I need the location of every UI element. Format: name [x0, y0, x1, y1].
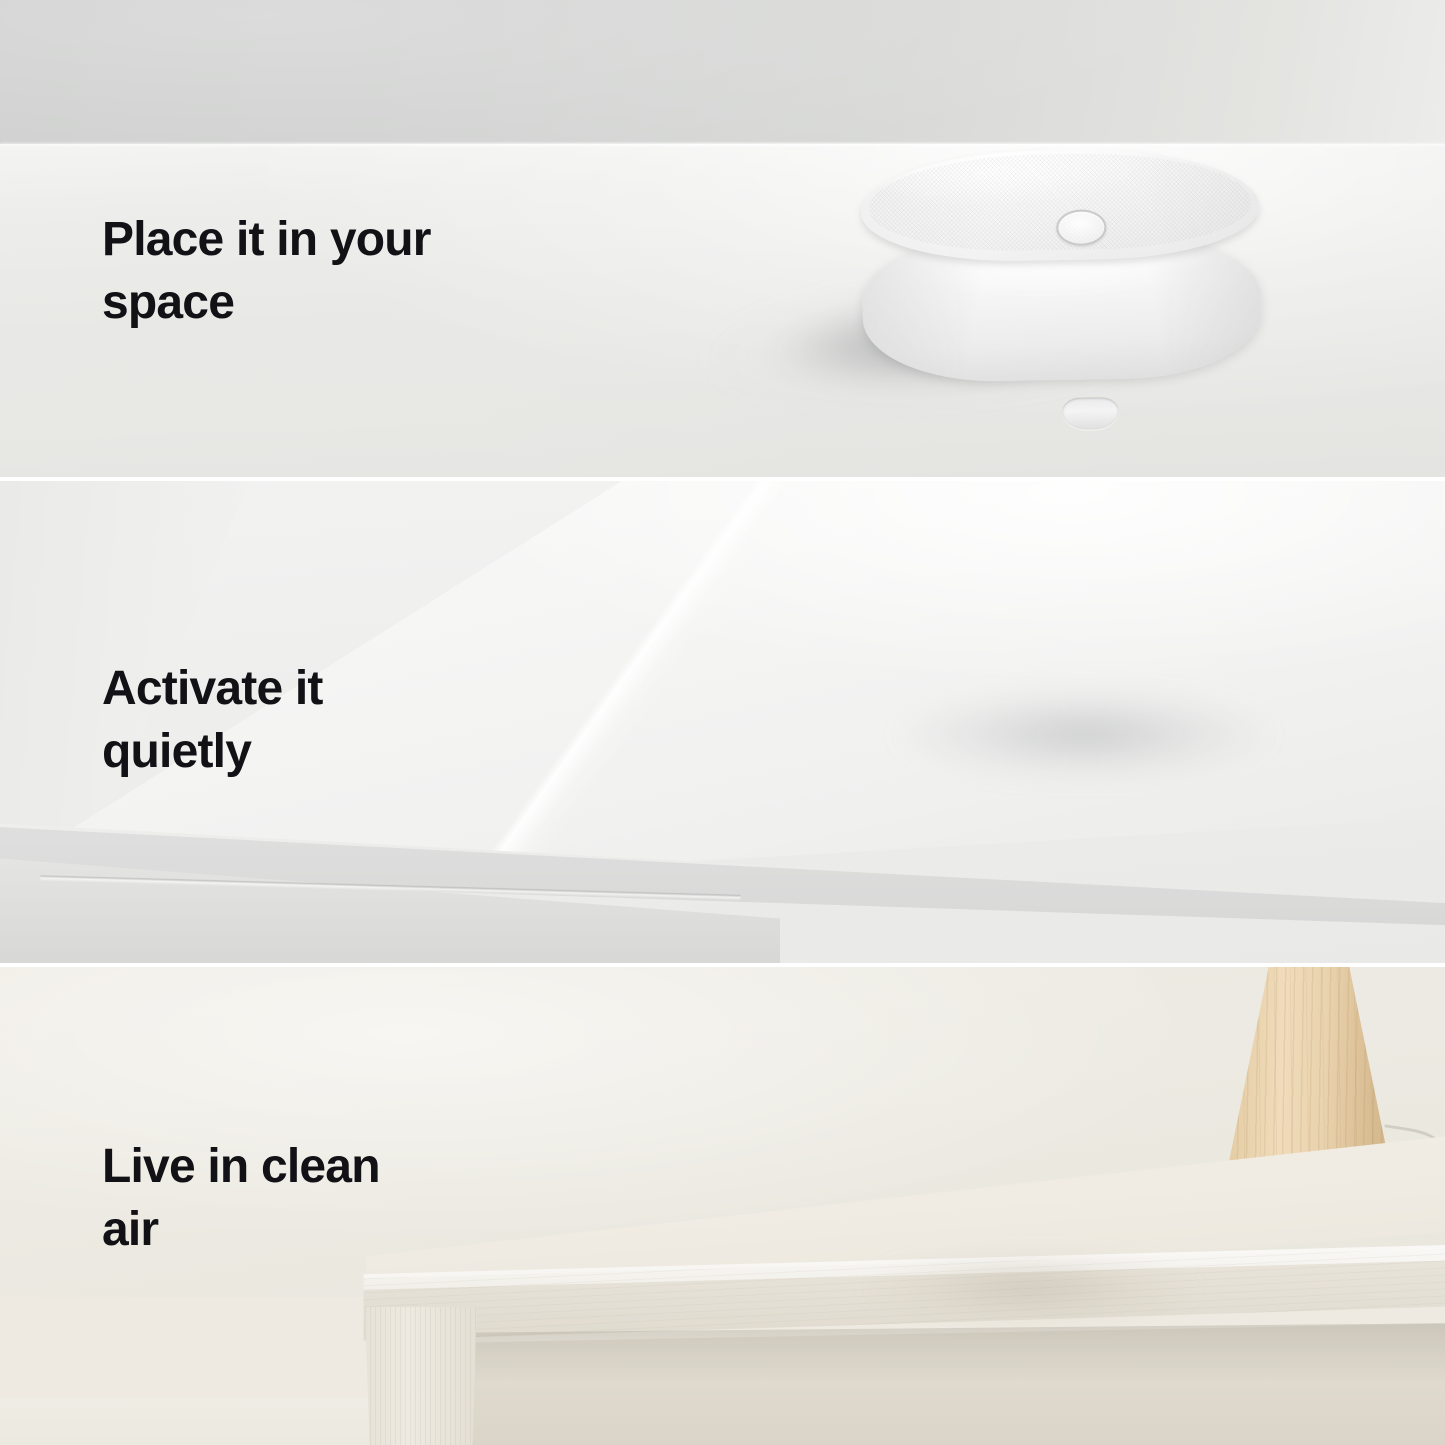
panel-live-in-clean-air: Live in clean air	[0, 967, 1445, 1445]
wall-table-seam	[0, 143, 1445, 146]
device-cast-shadow	[830, 1247, 1230, 1327]
device-cast-shadow	[820, 679, 1300, 789]
panel-place-it-in-your-space: Place it in your space	[0, 0, 1445, 477]
lifestyle-triptych: Place it in your space ⏻	[0, 0, 1445, 1445]
table-underside-gradient	[470, 1323, 1445, 1383]
table-leg-grain	[365, 1307, 477, 1445]
air-purifier-device-off	[860, 147, 1262, 384]
wall-shading	[0, 0, 1445, 146]
panel-caption-activate: Activate it quietly	[102, 657, 323, 784]
panel-caption-place: Place it in your space	[102, 208, 431, 335]
panel-activate-it-quietly: ⏻ Activate it quietly	[0, 481, 1445, 963]
panel-caption-live: Live in clean air	[102, 1135, 380, 1262]
device-lid	[860, 147, 1260, 264]
